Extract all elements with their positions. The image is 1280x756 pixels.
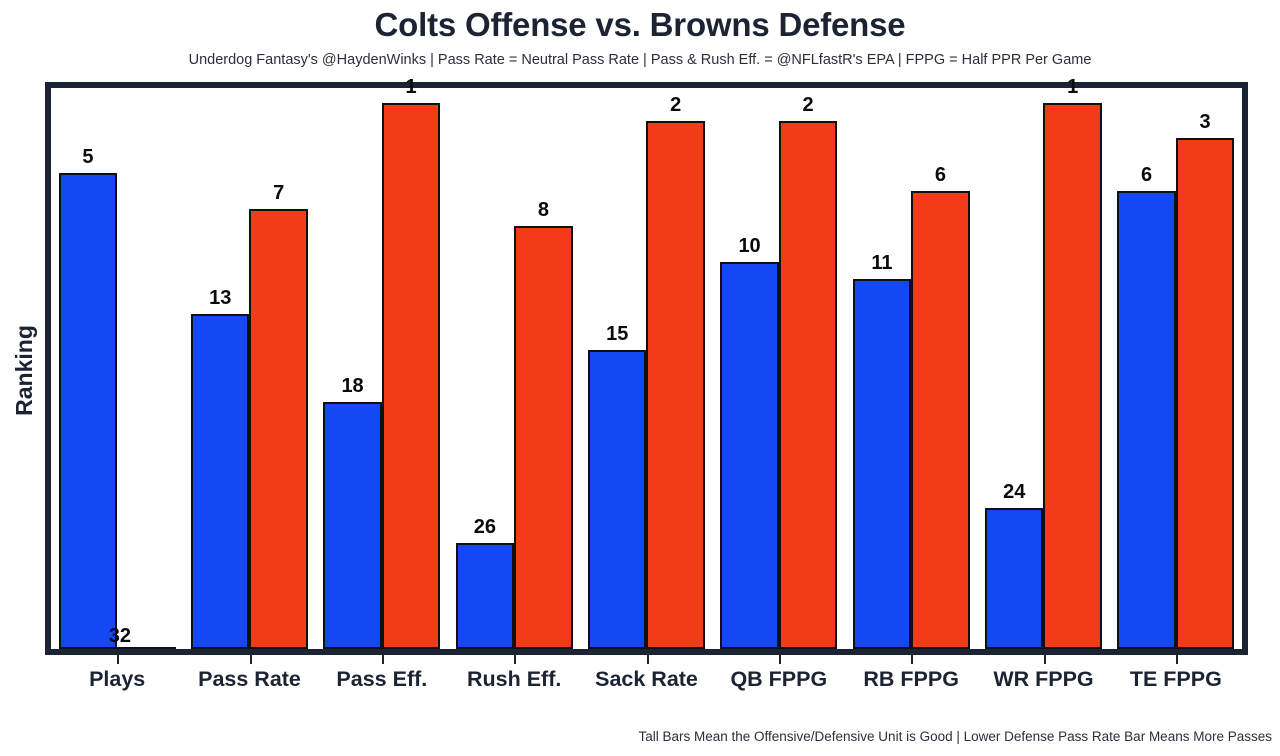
bar-group: 116 <box>845 88 977 649</box>
bar-defense[interactable]: 2 <box>779 121 838 649</box>
bar-offense[interactable]: 11 <box>853 279 912 649</box>
bar-defense[interactable]: 32 <box>117 647 176 649</box>
bar-offense[interactable]: 18 <box>323 402 382 649</box>
bar-group: 137 <box>183 88 315 649</box>
bar-defense[interactable]: 2 <box>646 121 705 649</box>
bar-defense[interactable]: 3 <box>1176 138 1235 649</box>
bar-value-label: 10 <box>738 236 760 256</box>
chart-caption: Tall Bars Mean the Offensive/Defensive U… <box>0 729 1272 744</box>
bar-group: 241 <box>977 88 1109 649</box>
x-axis-tick <box>1044 655 1046 664</box>
bar-value-label: 1 <box>1067 77 1078 97</box>
bar-offense[interactable]: 26 <box>456 543 515 649</box>
chart-title: Colts Offense vs. Browns Defense <box>0 6 1280 44</box>
bar-value-label: 24 <box>1003 482 1025 502</box>
bar-offense[interactable]: 5 <box>59 173 118 649</box>
bar-value-label: 1 <box>406 77 417 97</box>
x-axis-label-rb-fppg: RB FPPG <box>863 667 959 692</box>
bar-defense[interactable]: 6 <box>911 191 970 649</box>
x-axis-tick <box>514 655 516 664</box>
bar-value-label: 7 <box>273 183 284 203</box>
x-axis-tick <box>911 655 913 664</box>
bar-value-label: 3 <box>1200 112 1211 132</box>
bar-value-label: 8 <box>538 200 549 220</box>
y-axis-label: Ranking <box>6 270 42 470</box>
bar-offense[interactable]: 15 <box>588 350 647 649</box>
plot-area: 53213718126815210211624163 <box>51 88 1242 649</box>
bar-group: 181 <box>316 88 448 649</box>
bar-value-label: 13 <box>209 288 231 308</box>
bar-value-label: 26 <box>474 517 496 537</box>
chart-subtitle: Underdog Fantasy's @HaydenWinks | Pass R… <box>0 52 1280 68</box>
x-axis-label-plays: Plays <box>89 667 145 692</box>
bar-defense[interactable]: 7 <box>249 209 308 649</box>
x-axis-tick <box>1176 655 1178 664</box>
bar-value-label: 5 <box>82 147 93 167</box>
bar-value-label: 32 <box>109 626 184 646</box>
x-axis-tick <box>117 655 119 664</box>
bar-group: 63 <box>1110 88 1242 649</box>
bar-offense[interactable]: 24 <box>985 508 1044 649</box>
bar-defense[interactable]: 1 <box>382 103 441 649</box>
x-axis-label-sack-rate: Sack Rate <box>595 667 698 692</box>
x-axis-label-pass-rate: Pass Rate <box>198 667 301 692</box>
bar-defense[interactable]: 1 <box>1043 103 1102 649</box>
y-axis-label-text: Ranking <box>11 325 38 416</box>
x-axis-label-te-fppg: TE FPPG <box>1130 667 1222 692</box>
x-axis-tick <box>779 655 781 664</box>
x-axis-label-wr-fppg: WR FPPG <box>993 667 1093 692</box>
bar-offense[interactable]: 10 <box>720 262 779 649</box>
bar-defense[interactable]: 8 <box>514 226 573 649</box>
plot-frame: 53213718126815210211624163 <box>45 82 1248 655</box>
bar-group: 152 <box>580 88 712 649</box>
bar-value-label: 11 <box>871 253 892 273</box>
bar-value-label: 15 <box>606 324 628 344</box>
x-axis: PlaysPass RatePass Eff.Rush Eff.Sack Rat… <box>45 655 1248 701</box>
bar-value-label: 18 <box>341 376 363 396</box>
bar-value-label: 2 <box>670 95 681 115</box>
bar-offense[interactable]: 13 <box>191 314 250 649</box>
bar-value-label: 6 <box>935 165 946 185</box>
bar-value-label: 6 <box>1141 165 1152 185</box>
x-axis-label-pass-eff: Pass Eff. <box>336 667 427 692</box>
x-axis-label-rush-eff: Rush Eff. <box>467 667 561 692</box>
x-axis-tick <box>382 655 384 664</box>
bar-group: 102 <box>713 88 845 649</box>
x-axis-tick <box>647 655 649 664</box>
bar-group: 532 <box>51 88 183 649</box>
bar-value-label: 2 <box>803 95 814 115</box>
x-axis-label-qb-fppg: QB FPPG <box>730 667 827 692</box>
bar-offense[interactable]: 6 <box>1117 191 1176 649</box>
bar-group: 268 <box>448 88 580 649</box>
x-axis-tick <box>250 655 252 664</box>
